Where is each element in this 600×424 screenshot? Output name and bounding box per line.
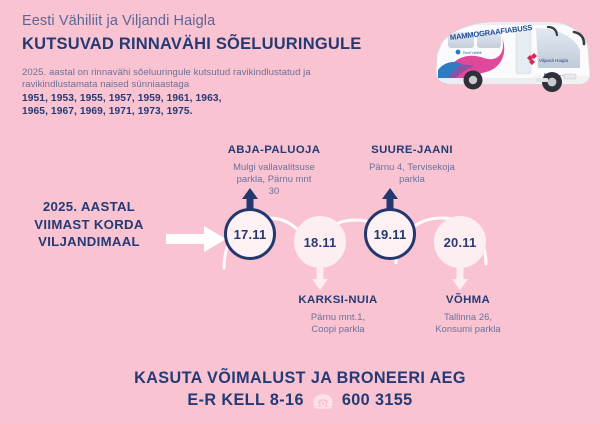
address-line-3: 30 (206, 185, 342, 197)
page-title: KUTSUVAD RINNAVÄHI SÕELUURINGULE (22, 33, 442, 55)
pin-date-label: 20.11 (434, 216, 486, 268)
organization-line: Eesti Vähiliit ja Viljandi Haigla (22, 12, 442, 31)
intro-line-1: 2025. aastal on rinnavähi sõeluuringule … (22, 67, 442, 79)
timeline-pin-20-11[interactable]: 20.11 (434, 200, 486, 272)
address-line-2: Konsumi parkla (400, 323, 536, 335)
footer: KASUTA VÕIMALUST JA BRONEERI AEG E-R KEL… (0, 368, 600, 411)
city-name: KARKSI-NUIA (270, 293, 406, 308)
pin-date-label: 18.11 (294, 216, 346, 268)
address-line-1: Tallinna 26, (400, 311, 536, 323)
birth-years-line-1: 1951, 1953, 1955, 1957, 1959, 1961, 1963… (22, 92, 442, 105)
address-line-1: Pärnu 4, Tervisekoja (344, 161, 480, 173)
footer-cta: KASUTA VÕIMALUST JA BRONEERI AEG (0, 368, 600, 389)
pin-date-label: 17.11 (224, 208, 276, 260)
timeline-pin-19-11[interactable]: 19.11 (364, 192, 416, 264)
address-line-1: Mulgi vallavalitsuse (206, 161, 342, 173)
mammography-bus-photo: MAMMOGRAAFIABUSS Viljandi Haigla Eesti V… (428, 12, 594, 98)
city-name: SUURE-JAANI (344, 143, 480, 158)
pin-arrow-down-icon (294, 264, 346, 290)
office-hours: E-R KELL 8-16 (187, 390, 303, 411)
stop-label-suure-jaani: SUURE-JAANI Pärnu 4, Tervisekoja parkla (344, 143, 480, 185)
phone-number: 600 3155 (342, 390, 413, 411)
svg-text:Eesti Vähiliit: Eesti Vähiliit (463, 51, 482, 55)
telephone-icon (312, 393, 334, 410)
intro-line-2: ravikindlustamata naised sünniaastaga (22, 79, 442, 91)
svg-text:Viljandi Haigla: Viljandi Haigla (539, 58, 568, 63)
address-line-2: Coopi parkla (270, 323, 406, 335)
city-name: ABJA-PALUOJA (206, 143, 342, 158)
stop-label-karksi-nuia: KARKSI-NUIA Pärnu mnt.1, Coopi parkla (270, 293, 406, 335)
footer-contact: E-R KELL 8-16 600 3155 (0, 390, 600, 411)
city-address: Pärnu mnt.1, Coopi parkla (270, 311, 406, 335)
intro-paragraph: 2025. aastal on rinnavähi sõeluuringule … (22, 67, 442, 118)
address-line-2: parkla, Pärnu mnt (206, 173, 342, 185)
callout-line-1: 2025. AASTAL (14, 198, 164, 216)
callout-line-2: VIIMAST KORDA (14, 216, 164, 234)
stop-label-vohma: VÕHMA Tallinna 26, Konsumi parkla (400, 293, 536, 335)
city-address: Mulgi vallavalitsuse parkla, Pärnu mnt 3… (206, 161, 342, 198)
stop-label-abja-paluoja: ABJA-PALUOJA Mulgi vallavalitsuse parkla… (206, 143, 342, 198)
left-callout: 2025. AASTAL VIIMAST KORDA VILJANDIMAAL (14, 198, 164, 251)
callout-line-3: VILJANDIMAAL (14, 233, 164, 251)
city-address: Pärnu 4, Tervisekoja parkla (344, 161, 480, 185)
pin-date-label: 19.11 (364, 208, 416, 260)
timeline-pin-18-11[interactable]: 18.11 (294, 200, 346, 272)
address-line-2: parkla (344, 173, 480, 185)
city-name: VÕHMA (400, 293, 536, 308)
pin-arrow-down-icon (434, 264, 486, 290)
birth-years-line-2: 1965, 1967, 1969, 1971, 1973, 1975. (22, 105, 442, 118)
timeline-pin-17-11[interactable]: 17.11 (224, 192, 276, 264)
city-address: Tallinna 26, Konsumi parkla (400, 311, 536, 335)
address-line-1: Pärnu mnt.1, (270, 311, 406, 323)
header: Eesti Vähiliit ja Viljandi Haigla KUTSUV… (22, 12, 442, 118)
